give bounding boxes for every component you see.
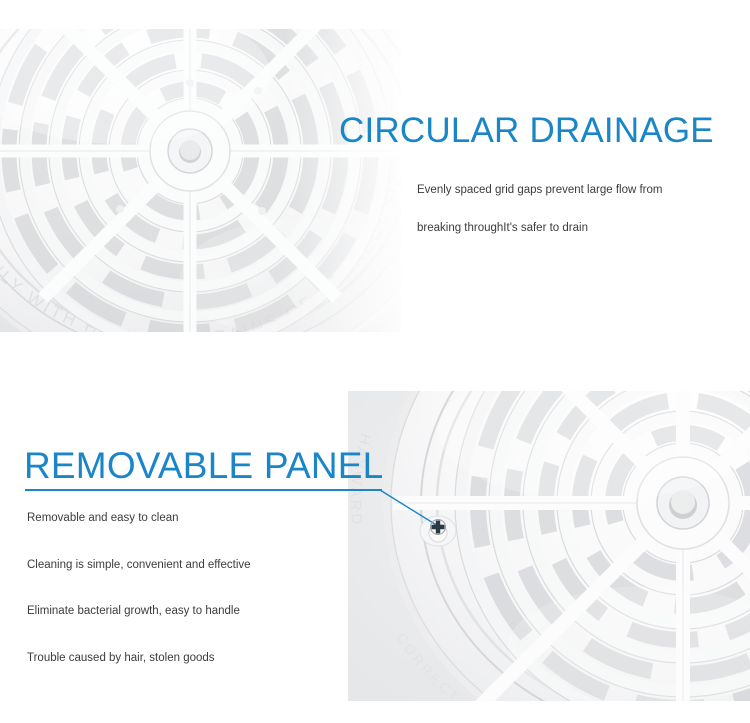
- removable-panel-heading: REMOVABLE PANEL: [24, 447, 383, 484]
- heading-underline: [25, 489, 382, 491]
- screw-boss: [420, 516, 456, 546]
- body-line: Trouble caused by hair, stolen goods: [27, 653, 337, 665]
- drain-cover-top-illustration: ONLY WITH HAYWARD DRAINS OF CORRECT SIZE…: [0, 29, 401, 332]
- body-line: Eliminate bacterial growth, easy to hand…: [27, 606, 337, 618]
- body-line: Evenly spaced grid gaps prevent large fl…: [417, 185, 737, 197]
- body-line: Cleaning is simple, convenient and effec…: [27, 560, 337, 572]
- removable-panel-body: Removable and easy to clean Cleaning is …: [27, 513, 337, 699]
- drain-cover-angled-illustration: HAYWARD CORRECT SIZE: [348, 391, 750, 701]
- circular-drainage-photo: ONLY WITH HAYWARD DRAINS OF CORRECT SIZE…: [0, 29, 401, 332]
- circular-drainage-heading: CIRCULAR DRAINAGE: [339, 113, 714, 148]
- body-line: breaking throughIt's safer to drain: [417, 223, 737, 235]
- circular-drainage-body: Evenly spaced grid gaps prevent large fl…: [417, 185, 737, 260]
- removable-panel-photo: HAYWARD CORRECT SIZE: [348, 391, 750, 701]
- body-line: Removable and easy to clean: [27, 513, 337, 525]
